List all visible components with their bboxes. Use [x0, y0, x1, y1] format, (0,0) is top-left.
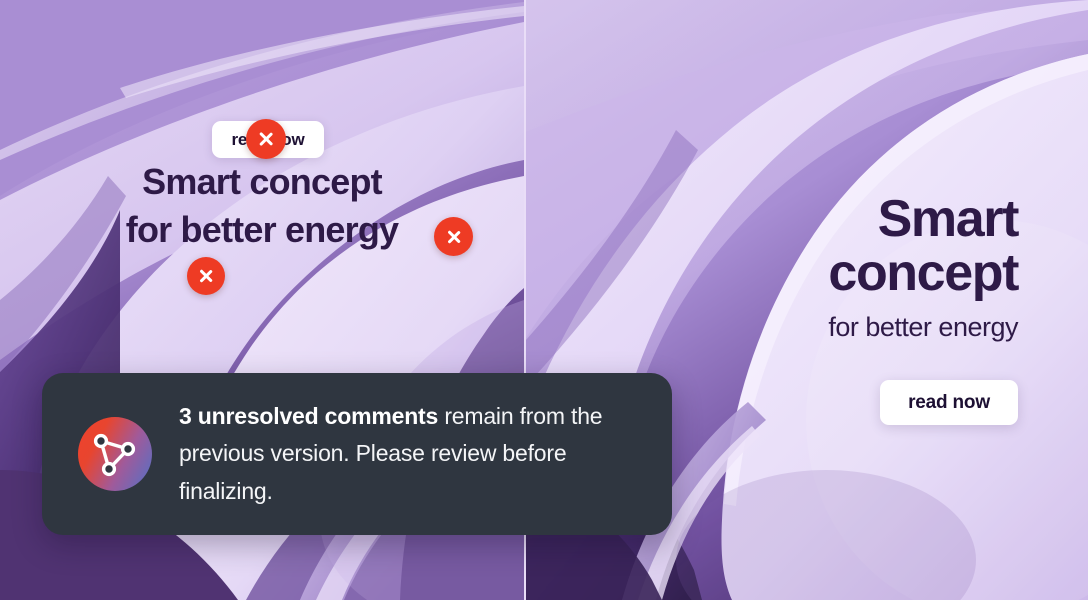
right-banner-copy: Smart concept for better energy	[828, 192, 1018, 343]
toast-message-highlight: 3 unresolved comments	[179, 403, 438, 429]
right-headline: Smart concept	[828, 192, 1018, 300]
node-graph-icon	[78, 417, 152, 491]
screenshot-stage: Smart concept for better energy read now	[0, 0, 1088, 600]
read-now-button-right[interactable]: read now	[880, 380, 1018, 425]
reject-marker-icon[interactable]	[246, 119, 286, 159]
reject-marker-icon[interactable]	[434, 217, 473, 256]
left-headline-line1: Smart concept	[0, 158, 524, 206]
toast-message: 3 unresolved comments remain from the pr…	[179, 398, 646, 510]
unresolved-comments-toast[interactable]: 3 unresolved comments remain from the pr…	[42, 373, 672, 535]
reject-marker-icon[interactable]	[187, 257, 225, 295]
right-subheadline: for better energy	[828, 312, 1018, 343]
